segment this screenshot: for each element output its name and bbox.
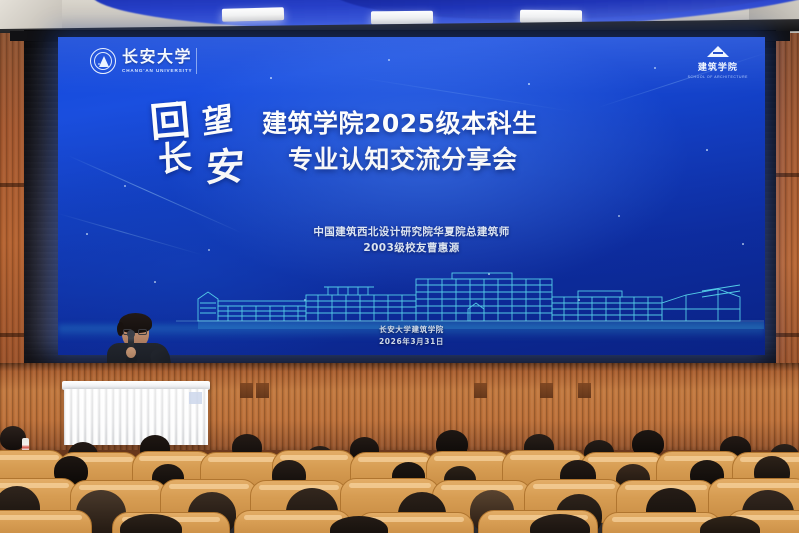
audience-seat <box>0 510 92 533</box>
calligraphy-char: 安 <box>204 147 245 187</box>
ceiling-light-panel <box>222 7 284 22</box>
calligraphy-char: 望 <box>201 104 233 140</box>
audience-area <box>0 420 799 533</box>
architecture-roof-icon <box>707 46 729 57</box>
school-name-en: SCHOOL OF ARCHITECTURE <box>688 75 748 79</box>
ceiling-corner-left <box>0 0 62 30</box>
subtitle-line-2: 2003级校友曹惠源 <box>58 240 765 256</box>
school-name-cn: 建筑学院 <box>688 60 748 73</box>
school-of-architecture-logo: 建筑学院 SCHOOL OF ARCHITECTURE <box>688 46 748 79</box>
logo-divider <box>196 48 197 74</box>
speaker-credentials: 中国建筑西北设计研究院华夏院总建筑师 2003级校友曹惠源 <box>58 224 765 257</box>
projection-screen: 长安大学 CHANG'AN UNIVERSITY 建筑学院 SCHOOL OF … <box>58 37 765 355</box>
title-line-2: 专业认知交流分享会 <box>262 142 602 178</box>
ceiling-light-panel <box>371 11 433 25</box>
lecture-hall-photo: 长安大学 CHANG'AN UNIVERSITY 建筑学院 SCHOOL OF … <box>0 0 799 533</box>
presenter-hand <box>126 347 136 358</box>
university-name-en: CHANG'AN UNIVERSITY <box>122 68 193 73</box>
title-line-1: 建筑学院2025级本科生 <box>262 106 602 142</box>
university-seal-icon <box>90 48 116 74</box>
calligraphy-char: 长 <box>157 140 192 178</box>
event-title: 建筑学院2025级本科生 专业认知交流分享会 <box>262 106 602 179</box>
table-cloth-fold <box>189 392 202 404</box>
university-name-cn: 长安大学 <box>122 49 193 65</box>
calligraphy-hui-wang-chang-an: 回 望 长 安 <box>150 100 260 192</box>
chang-an-university-logo: 长安大学 CHANG'AN UNIVERSITY <box>90 48 193 74</box>
subtitle-line-1: 中国建筑西北设计研究院华夏院总建筑师 <box>58 224 765 240</box>
